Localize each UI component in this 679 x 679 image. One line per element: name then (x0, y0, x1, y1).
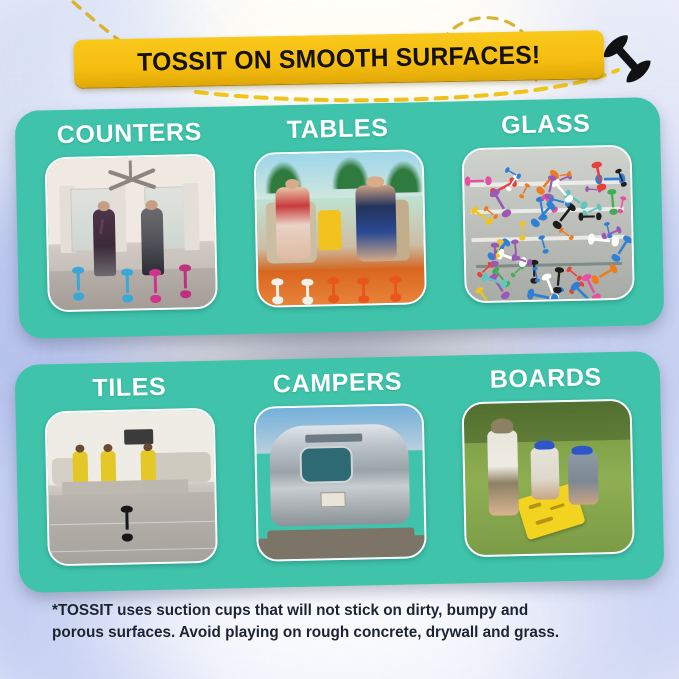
dart-icon (617, 196, 627, 214)
title-banner: TOSSIT ON SMOOTH SURFACES! (74, 30, 605, 88)
disclaimer-line-1: *TOSSIT uses suction cups that will not … (52, 600, 632, 622)
dart-icon (490, 242, 499, 266)
disclaimer: *TOSSIT uses suction cups that will not … (52, 600, 632, 643)
surface-card-campers[interactable]: CAMPERS (243, 367, 435, 562)
page-title: TOSSIT ON SMOOTH SURFACES! (137, 41, 541, 77)
surface-photo-glass[interactable] (461, 145, 634, 304)
surface-card-glass[interactable]: GLASS (451, 108, 643, 303)
surface-label-glass: GLASS (501, 110, 591, 141)
dart-icon (464, 176, 491, 186)
surface-card-tables[interactable]: TABLES (243, 113, 435, 308)
surface-card-counters[interactable]: COUNTERS (35, 118, 227, 313)
disclaimer-line-2: porous surfaces. Avoid playing on rough … (52, 622, 632, 644)
surface-photo-campers[interactable] (253, 403, 426, 562)
dart-icon (519, 222, 526, 241)
surface-photo-counters[interactable] (45, 154, 218, 313)
dart-icon (578, 212, 601, 221)
surface-label-boards: BOARDS (489, 363, 602, 394)
dart-icon (598, 28, 662, 90)
surfaces-panel-bottom: TILES CAMPERS (15, 351, 665, 593)
surface-photo-tables[interactable] (253, 149, 426, 308)
surface-label-tiles: TILES (92, 373, 166, 404)
dart-icon (511, 239, 521, 261)
surface-photo-boards[interactable] (461, 399, 634, 558)
dart-icon (475, 286, 496, 301)
dart-icon (565, 266, 582, 282)
surface-label-tables: TABLES (286, 114, 388, 145)
surfaces-panel-top: COUNTERS (15, 97, 665, 339)
surface-label-campers: CAMPERS (273, 368, 403, 400)
surface-label-counters: COUNTERS (57, 118, 203, 150)
dart-icon (615, 167, 628, 187)
surface-photo-tiles[interactable] (45, 408, 218, 567)
surface-card-tiles[interactable]: TILES (35, 372, 227, 567)
surface-card-boards[interactable]: BOARDS (451, 362, 643, 557)
